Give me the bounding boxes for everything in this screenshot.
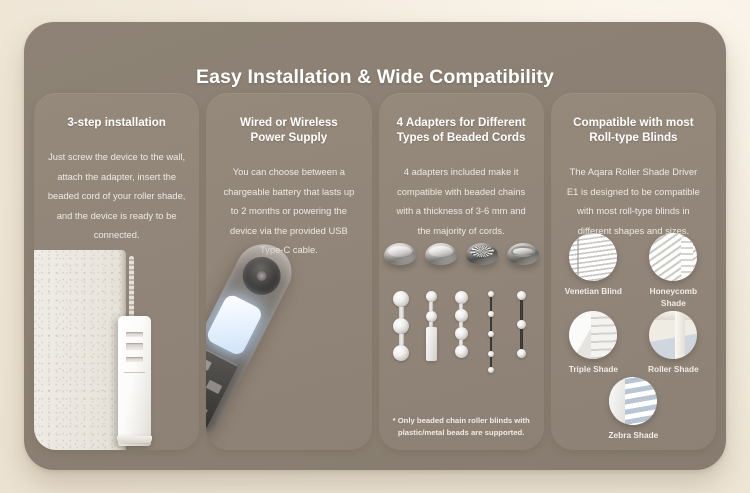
adapter-1-icon: [384, 243, 416, 265]
motor-component: [236, 250, 287, 301]
adapters-and-bead-chains-photo: [379, 243, 544, 410]
bead-chain-row: [379, 291, 544, 373]
blind-type-item[interactable]: Venetian Blind: [560, 233, 626, 309]
device-base: [117, 436, 152, 443]
panel-1-heading: 3-step installation: [44, 115, 189, 130]
panel-3-body: 4 adapters included make it compatible w…: [392, 162, 531, 240]
wall-mounted-device-photo: [34, 250, 199, 450]
panel-1-body: Just screw the device to the wall, attac…: [47, 147, 186, 245]
bead-chain-small-dark: [483, 291, 499, 373]
panel-2-heading-line2: Power Supply: [216, 130, 361, 145]
blind-type-item[interactable]: Roller Shade: [640, 311, 706, 375]
blind-type-label: Zebra Shade: [600, 429, 666, 441]
panel-beaded-cord-adapters[interactable]: 4 Adapters for Different Types of Beaded…: [379, 93, 544, 450]
panel-4-heading-line1: Compatible with most: [561, 115, 706, 130]
screenshot-root: Easy Installation & Wide Compatibility 3…: [0, 0, 750, 493]
device-xray-body: [206, 235, 301, 439]
adapter-4-icon: [507, 243, 539, 265]
device-slot-top: [126, 332, 143, 337]
bead-chain-medium: [453, 291, 469, 358]
beaded-cord: [129, 256, 134, 320]
zebra-shade-icon: [609, 377, 657, 425]
hero-card: Easy Installation & Wide Compatibility 3…: [24, 22, 726, 470]
honeycomb-shade-icon: [649, 233, 697, 281]
shade-driver-device: [118, 316, 151, 446]
triple-shade-icon: [569, 311, 617, 359]
bead-chain-slab: [423, 291, 439, 361]
panel-4-heading: Compatible with most Roll-type Blinds: [561, 115, 706, 145]
panel-roll-type-blind-compatibility[interactable]: Compatible with most Roll-type Blinds Th…: [551, 93, 716, 450]
panel-4-heading-line2: Roll-type Blinds: [561, 130, 706, 145]
feature-panel-row: 3-step installation Just screw the devic…: [34, 93, 716, 450]
blind-type-item[interactable]: Zebra Shade: [600, 377, 666, 441]
panel-4-body: The Aqara Roller Shade Driver E1 is desi…: [564, 162, 703, 240]
battery-cell: [206, 293, 264, 357]
blind-type-thumbnails: Venetian Blind Honeycomb Shade Triple Sh…: [551, 233, 716, 442]
panel-3-heading-line2: Types of Beaded Cords: [389, 130, 534, 145]
bead-chain-large: [393, 291, 409, 361]
page-title: Easy Installation & Wide Compatibility: [24, 66, 726, 89]
panel-three-step-installation[interactable]: 3-step installation Just screw the devic…: [34, 93, 199, 450]
blind-type-item[interactable]: Triple Shade: [560, 311, 626, 375]
blind-type-label: Venetian Blind: [560, 285, 626, 297]
panel-2-heading-line1: Wired or Wireless: [216, 115, 361, 130]
adapter-3-icon: [466, 243, 498, 265]
textured-wall: [34, 250, 126, 450]
venetian-blind-icon: [569, 233, 617, 281]
device-slot-bottom: [126, 357, 143, 362]
xray-internal-battery-photo: [206, 235, 371, 450]
device-slot-mid: [126, 343, 143, 350]
blind-type-label: Roller Shade: [640, 363, 706, 375]
panel-3-footnote: * Only beaded chain roller blinds with p…: [391, 415, 532, 438]
panel-3-heading-line1: 4 Adapters for Different: [389, 115, 534, 130]
roller-shade-icon: [649, 311, 697, 359]
adapter-2-icon: [425, 243, 457, 265]
blind-type-label: Triple Shade: [560, 363, 626, 375]
adapter-row: [379, 243, 544, 265]
circuit-board: [206, 345, 239, 429]
blind-type-grid: Venetian Blind Honeycomb Shade Triple Sh…: [551, 233, 716, 441]
panel-2-heading: Wired or Wireless Power Supply: [216, 115, 361, 145]
blind-type-item[interactable]: Honeycomb Shade: [640, 233, 706, 309]
panel-3-heading: 4 Adapters for Different Types of Beaded…: [389, 115, 534, 145]
blind-type-label: Honeycomb Shade: [640, 285, 706, 309]
bead-chain-thin-dark: [513, 291, 529, 358]
panel-power-supply[interactable]: Wired or Wireless Power Supply You can c…: [206, 93, 371, 450]
